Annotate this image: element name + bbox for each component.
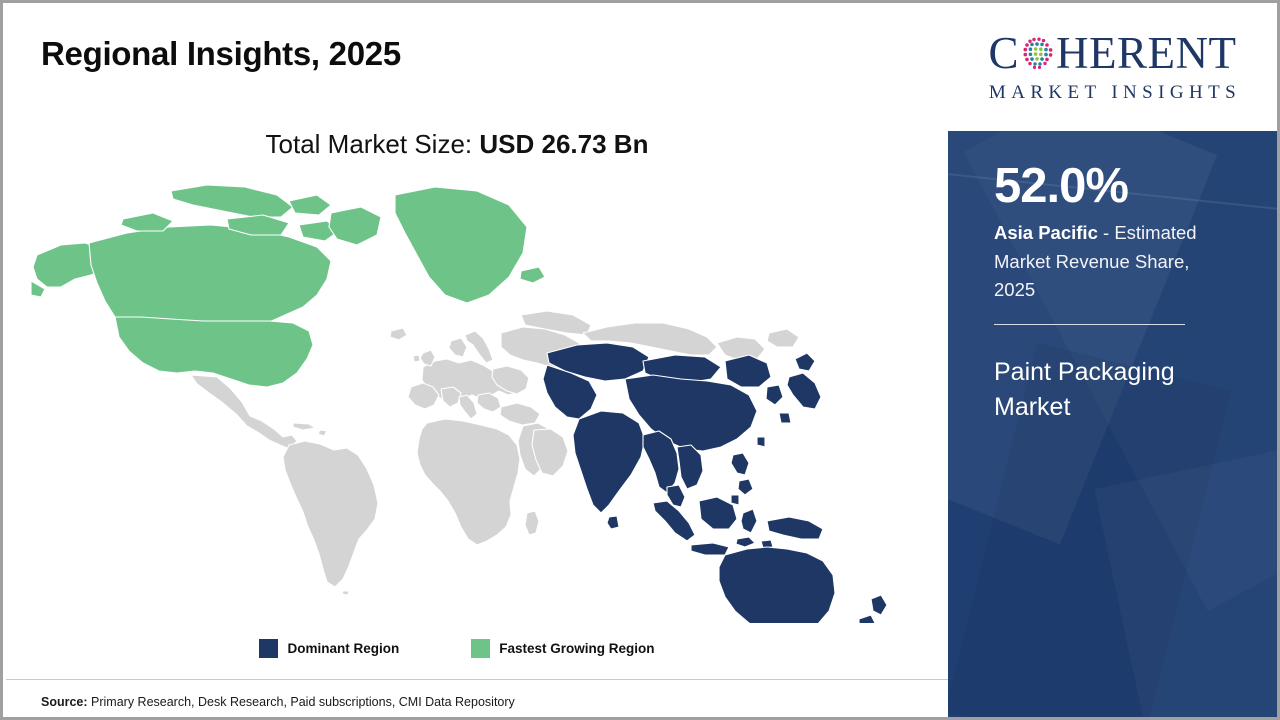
legend-item-fastest-growing: Fastest Growing Region — [471, 639, 654, 658]
left-content-pane: Regional Insights, 2025 Total Market Siz… — [3, 3, 951, 717]
market-size-label: Total Market Size: — [266, 129, 473, 159]
source-label: Source: — [41, 695, 88, 709]
green-swatch-icon — [471, 639, 490, 658]
source-note: Source: Primary Research, Desk Research,… — [41, 695, 515, 709]
panel-content: 52.0% Asia Pacific - Estimated Market Re… — [948, 161, 1277, 426]
fastest-growing-region-north-america — [31, 185, 545, 387]
logo-wordmark: C — [989, 31, 1237, 76]
share-description: Asia Pacific - Estimated Market Revenue … — [994, 219, 1231, 303]
dominant-region-asia-pacific — [543, 343, 887, 623]
legend-label-fastest-growing: Fastest Growing Region — [499, 641, 654, 656]
highlight-panel: 52.0% Asia Pacific - Estimated Market Re… — [948, 131, 1277, 717]
legend-item-dominant: Dominant Region — [259, 639, 399, 658]
total-market-size: Total Market Size: USD 26.73 Bn — [3, 129, 911, 160]
world-map-svg — [31, 183, 891, 623]
footer-divider — [6, 679, 951, 680]
brand-logo: C — [948, 3, 1277, 131]
market-size-value: USD 26.73 Bn — [479, 129, 648, 159]
logo-wordmark-text: HERENT — [1056, 31, 1236, 76]
navy-swatch-icon — [259, 639, 278, 658]
world-map-container — [31, 183, 891, 623]
map-legend: Dominant Region Fastest Growing Region — [3, 639, 911, 658]
logo-tagline: MARKET INSIGHTS — [984, 82, 1241, 104]
page-title: Regional Insights, 2025 — [41, 35, 401, 73]
regional-insights-infographic: Regional Insights, 2025 Total Market Siz… — [0, 0, 1280, 720]
region-name: Asia Pacific — [994, 222, 1098, 243]
legend-label-dominant: Dominant Region — [287, 641, 399, 656]
panel-texture-4 — [1094, 439, 1277, 717]
dotted-globe-icon — [1021, 36, 1055, 70]
share-value: 52.0% — [994, 161, 1231, 212]
source-text: Primary Research, Desk Research, Paid su… — [88, 695, 515, 709]
panel-rule — [994, 324, 1185, 325]
right-rail: C — [946, 3, 1277, 717]
logo-letter-c: C — [989, 31, 1020, 76]
market-name: Paint Packaging Market — [994, 355, 1231, 426]
